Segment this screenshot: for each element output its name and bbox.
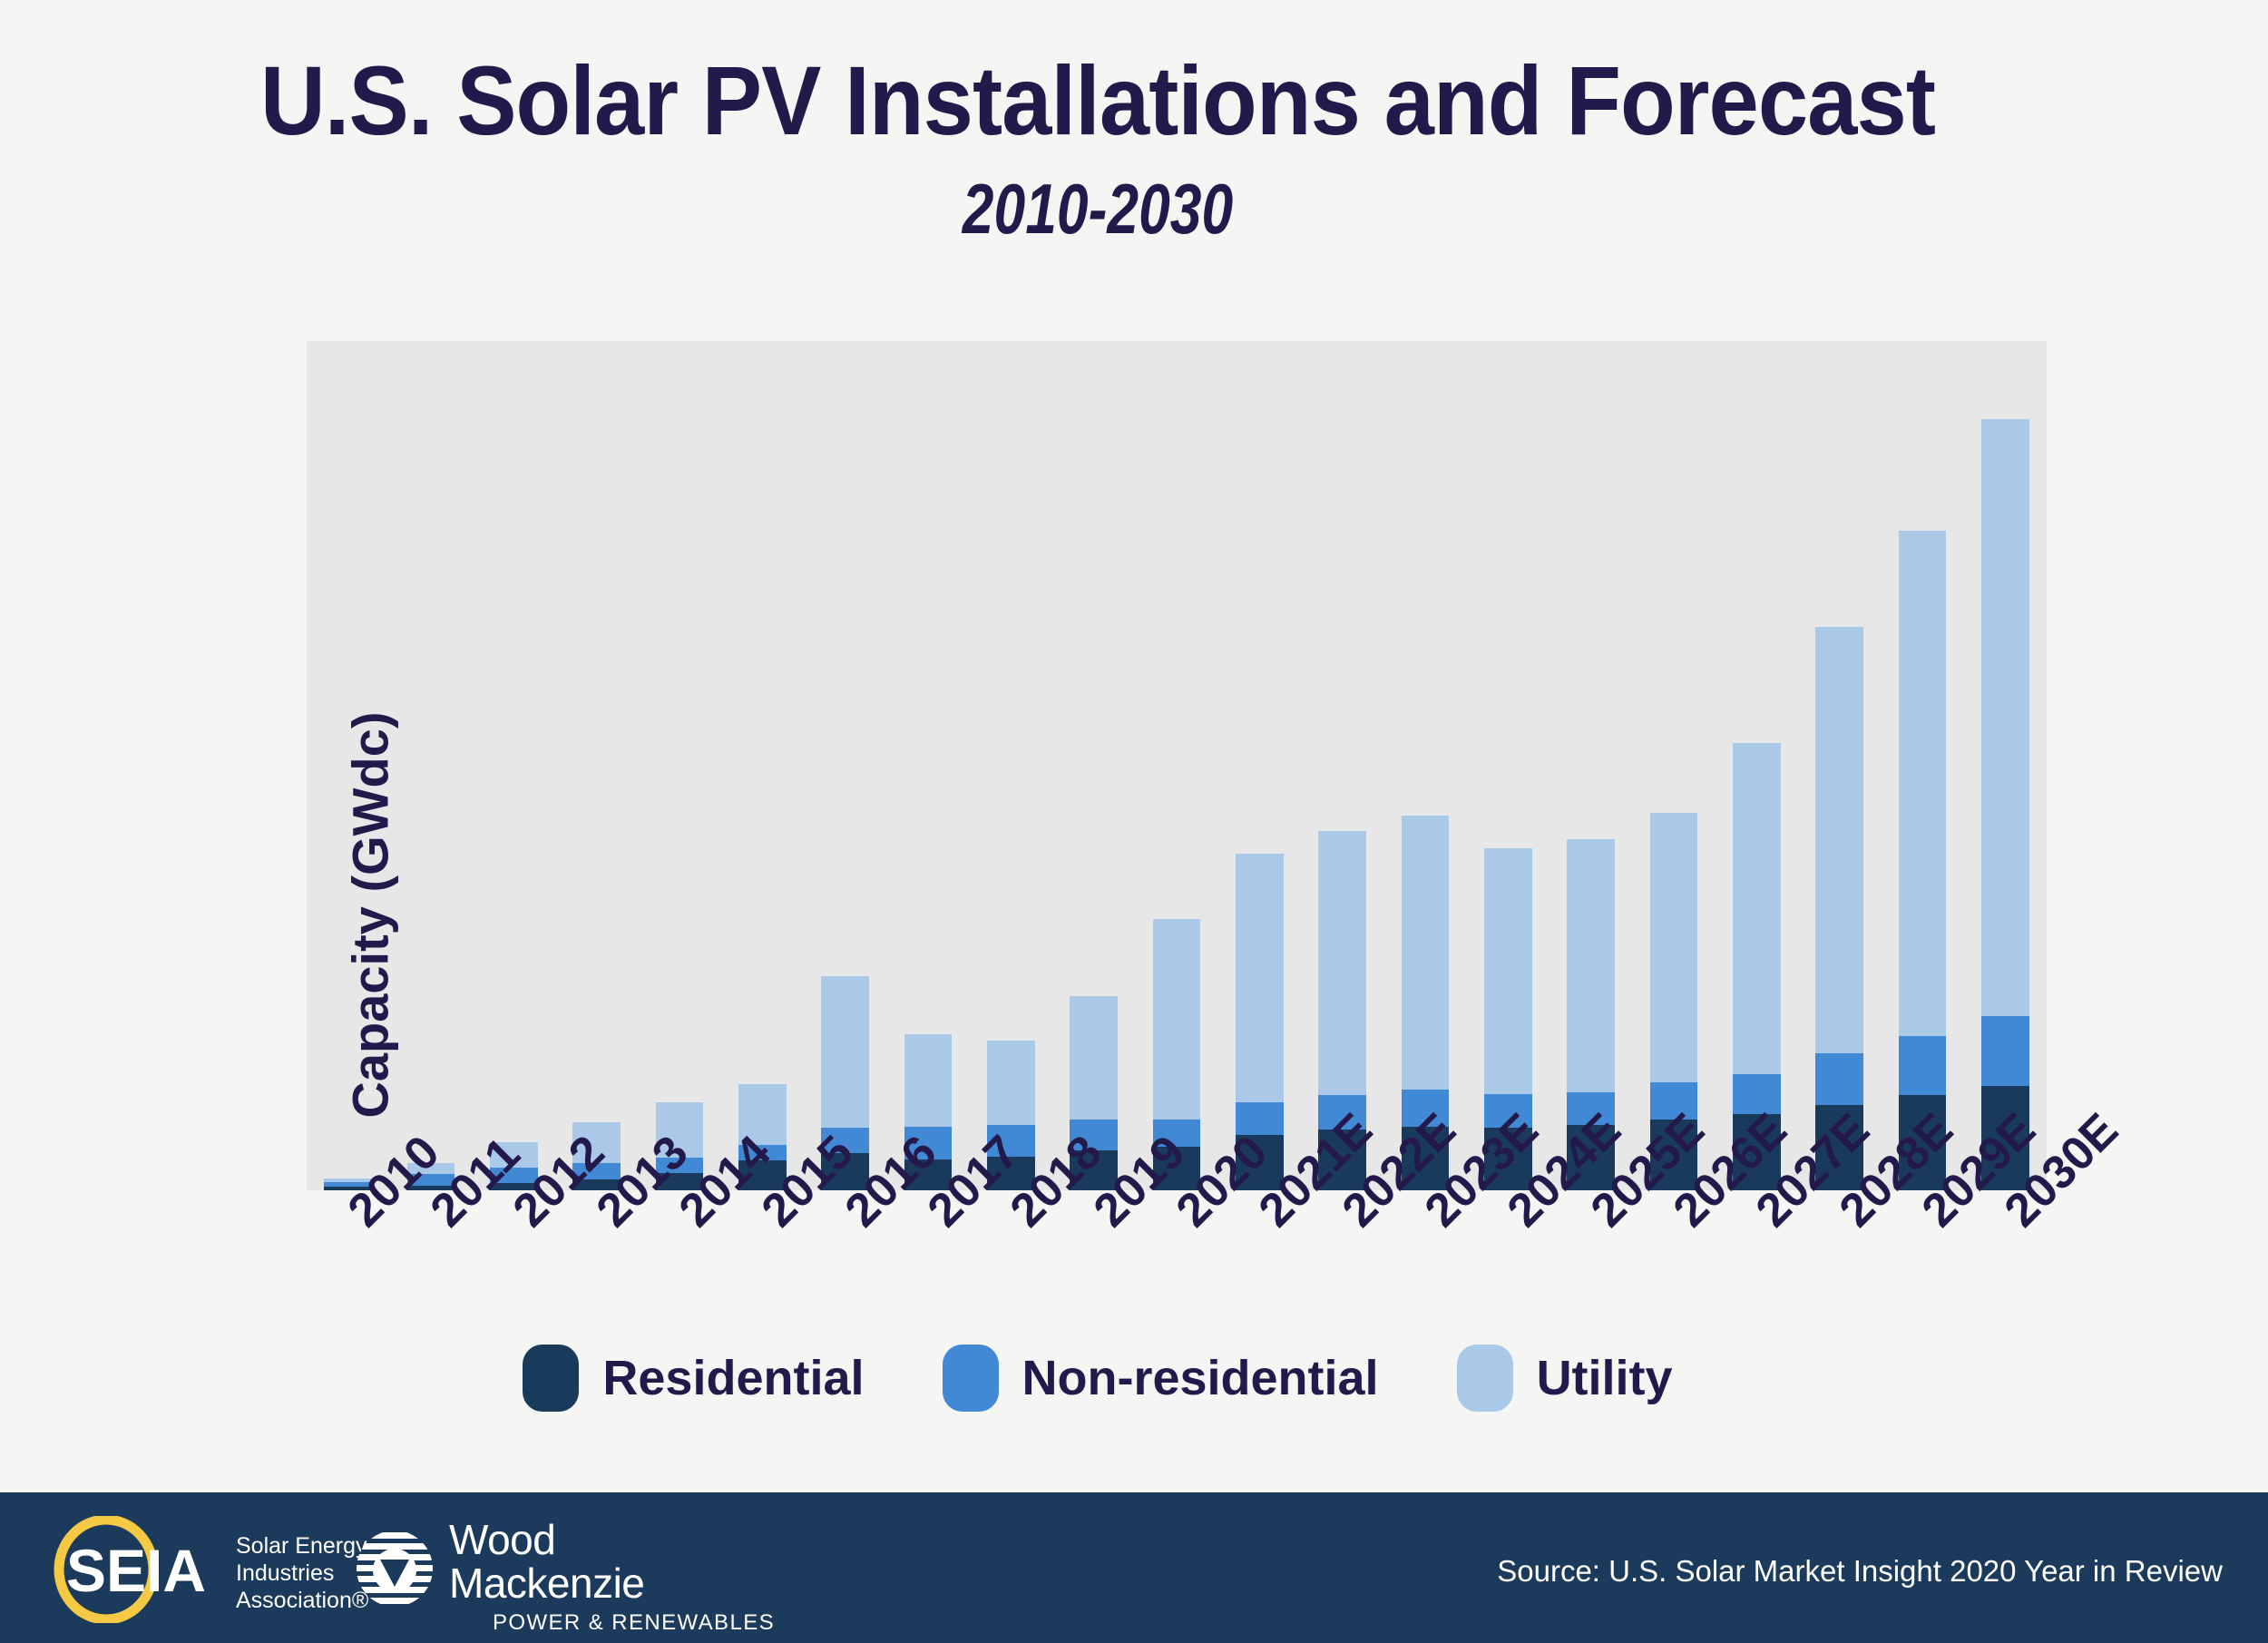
plot-area: Capacity (GWdc) 0102030405060 bbox=[307, 341, 2047, 1190]
bar-segment-non-residential[interactable] bbox=[1981, 1016, 2029, 1085]
bar-segment-utility[interactable] bbox=[1567, 839, 1615, 1092]
legend-label: Residential bbox=[602, 1350, 864, 1406]
source-note: Source: U.S. Solar Market Insight 2020 Y… bbox=[1497, 1554, 2223, 1589]
bar-segment-utility[interactable] bbox=[904, 1034, 953, 1126]
chart-canvas: Capacity (GWdc) 0102030405060 2010201120… bbox=[0, 0, 2268, 1479]
legend-label: Non-residential bbox=[1022, 1350, 1379, 1406]
bar-segment-non-residential[interactable] bbox=[1815, 1053, 1863, 1106]
legend-item-non-residential[interactable]: Non-residential bbox=[943, 1345, 1379, 1412]
wood-mackenzie-globe-icon bbox=[349, 1523, 440, 1614]
bar-stack[interactable] bbox=[1981, 419, 2029, 1190]
bar-segment-utility[interactable] bbox=[1899, 531, 1947, 1036]
bar-stack[interactable] bbox=[1899, 531, 1947, 1190]
bar-segment-utility[interactable] bbox=[1484, 848, 1532, 1094]
legend-label: Utility bbox=[1537, 1350, 1673, 1406]
seia-logo: SEIA Solar Energy Industries Association… bbox=[50, 1516, 322, 1625]
svg-text:SEIA: SEIA bbox=[66, 1537, 206, 1604]
seia-logo-icon: SEIA bbox=[50, 1516, 227, 1623]
bar-segment-utility[interactable] bbox=[1236, 854, 1284, 1103]
y-axis-title: Capacity (GWdc) bbox=[341, 661, 400, 1169]
bar-segment-utility[interactable] bbox=[1402, 816, 1450, 1090]
bar-segment-utility[interactable] bbox=[1733, 743, 1781, 1074]
legend-swatch-icon bbox=[1457, 1345, 1513, 1412]
wood-mackenzie-wordmark: Wood Mackenzie bbox=[449, 1518, 644, 1605]
legend-item-residential[interactable]: Residential bbox=[523, 1345, 864, 1412]
bar-segment-utility[interactable] bbox=[1815, 627, 1863, 1053]
bar-segment-utility[interactable] bbox=[1070, 996, 1118, 1120]
bar-segment-utility[interactable] bbox=[1981, 419, 2029, 1016]
chart-legend: ResidentialNon-residentialUtility bbox=[0, 1345, 2195, 1412]
bar-segment-utility[interactable] bbox=[821, 976, 869, 1128]
legend-swatch-icon bbox=[523, 1345, 579, 1412]
wood-mackenzie-tagline: POWER & RENEWABLES bbox=[493, 1610, 775, 1636]
wood-mackenzie-logo: Wood Mackenzie POWER & RENEWABLES bbox=[349, 1516, 658, 1630]
bar-segment-utility[interactable] bbox=[1318, 831, 1366, 1096]
legend-swatch-icon bbox=[943, 1345, 999, 1412]
bar-segment-non-residential[interactable] bbox=[1899, 1036, 1947, 1096]
bar-segment-utility[interactable] bbox=[987, 1041, 1035, 1126]
footer-bar: SEIA Solar Energy Industries Association… bbox=[0, 1492, 2268, 1643]
bar-segment-utility[interactable] bbox=[1153, 919, 1201, 1120]
bar-segment-utility[interactable] bbox=[1650, 813, 1698, 1083]
legend-item-utility[interactable]: Utility bbox=[1457, 1345, 1673, 1412]
